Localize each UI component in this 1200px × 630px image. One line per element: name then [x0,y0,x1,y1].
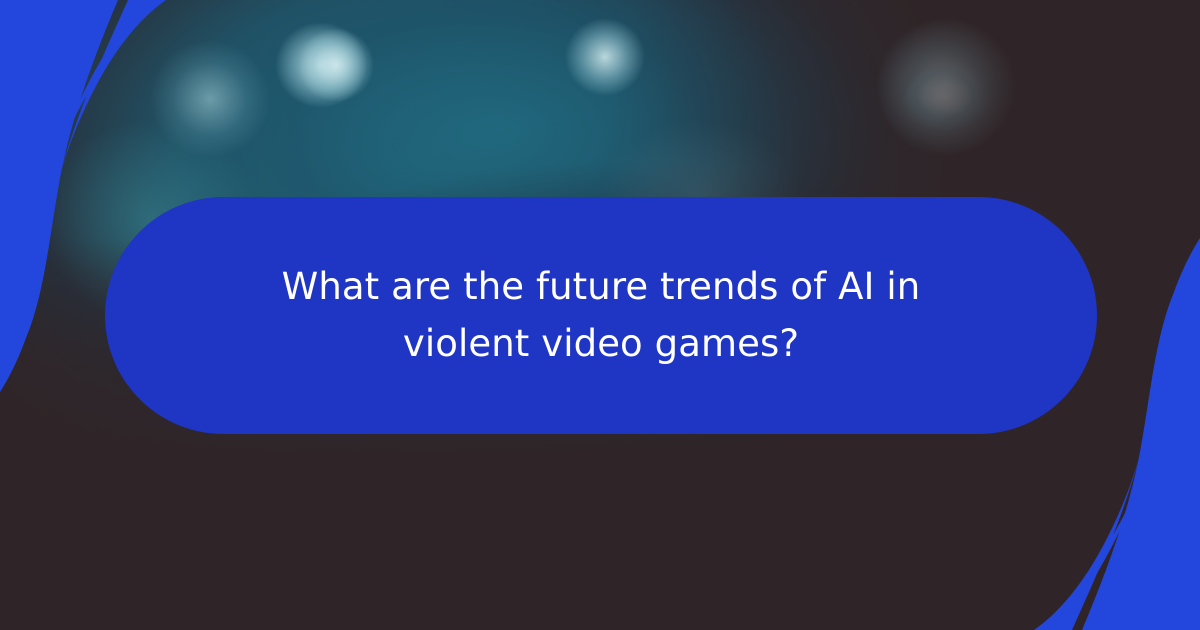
question-text: What are the future trends of AI in viol… [231,259,971,371]
social-card-canvas: What are the future trends of AI in viol… [0,0,1200,630]
question-card[interactable]: What are the future trends of AI in viol… [105,197,1097,434]
